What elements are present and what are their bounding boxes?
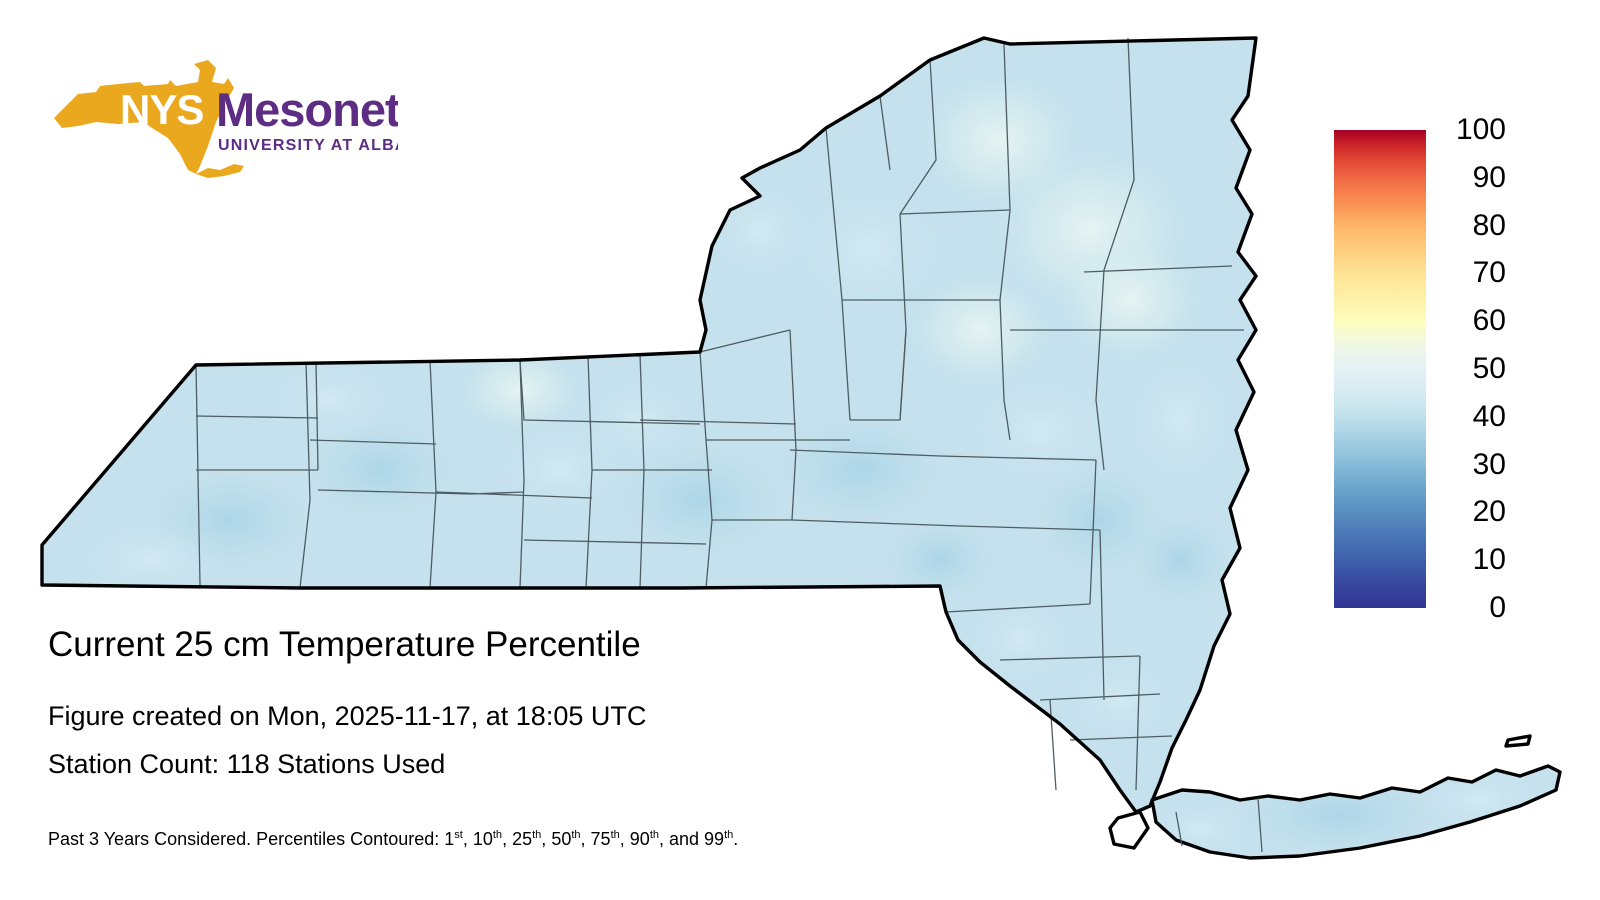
colorbar-tick-50: 50 [1473, 354, 1506, 384]
contour-footnote: Past 3 Years Considered. Percentiles Con… [48, 828, 738, 850]
footnote-percentile-75: 75th [591, 829, 620, 849]
footnote-lead: Past 3 Years Considered. Percentiles Con… [48, 829, 444, 849]
colorbar-tick-30: 30 [1473, 450, 1506, 480]
colorbar-tick-labels: 1009080706050403020100 [1434, 130, 1506, 608]
logo-tagline-text: UNIVERSITY AT ALBANY [218, 137, 398, 154]
footnote-percentile-90: 90th [630, 829, 659, 849]
long-island-fill [1100, 740, 1600, 900]
nys-mesonet-logo: NYS Mesonet UNIVERSITY AT ALBANY [48, 58, 398, 178]
footnote-percentile-99: 99th [704, 829, 733, 849]
footnote-percentile-1: 1st [444, 829, 463, 849]
colorbar-tick-100: 100 [1456, 115, 1506, 145]
page-title: Current 25 cm Temperature Percentile [48, 624, 641, 665]
percentile-colorbar [1334, 130, 1426, 608]
footnote-percentile-50: 50th [551, 829, 580, 849]
colorbar-tick-70: 70 [1473, 258, 1506, 288]
station-count-text: Station Count: 118 Stations Used [48, 748, 445, 780]
figure-canvas: NYS Mesonet UNIVERSITY AT ALBANY [0, 0, 1600, 900]
colorbar-tick-10: 10 [1473, 545, 1506, 575]
logo-nys-text: NYS [120, 86, 203, 133]
colorbar-tick-40: 40 [1473, 402, 1506, 432]
colorbar-tick-60: 60 [1473, 306, 1506, 336]
colorbar-tick-90: 90 [1473, 163, 1506, 193]
footnote-percentile-10: 10th [473, 829, 502, 849]
figure-created-text: Figure created on Mon, 2025-11-17, at 18… [48, 700, 646, 732]
colorbar-tick-0: 0 [1489, 593, 1506, 623]
colorbar-tick-20: 20 [1473, 497, 1506, 527]
footnote-percentile-25: 25th [512, 829, 541, 849]
colorbar-gradient [1334, 130, 1426, 608]
colorbar-tick-80: 80 [1473, 211, 1506, 241]
logo-mesonet-text: Mesonet [216, 83, 398, 136]
